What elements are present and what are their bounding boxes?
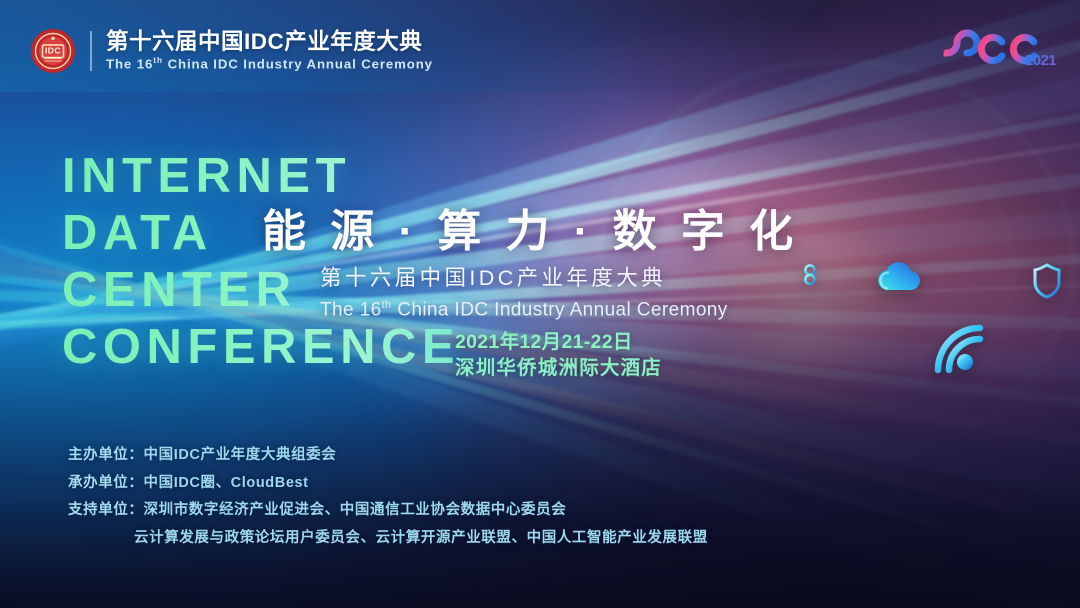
brand-title-en-pre: The 16 [106,57,153,72]
brand-title-cn: 第十六届中国IDC产业年度大典 [106,31,433,54]
wifi-signal-icon [932,322,988,374]
subtitle-en-post: China IDC Industry Annual Ceremony [392,299,728,320]
shield-check-icon [1030,262,1064,300]
brand-divider [90,31,92,71]
main-title-line-4: CONFERENCE [62,319,460,376]
date-venue-block: 2021年12月21-22日 深圳华侨城洲际大酒店 [455,330,662,381]
organizer-label-undertaker: 承办单位： [68,475,144,491]
subtitle-cn: 第十六届中国IDC产业年度大典 [320,265,799,292]
organizer-value-host: 中国IDC产业年度大典组委会 [144,447,337,463]
organizer-row-support: 支持单位：深圳市数字经济产业促进会、中国通信工业协会数据中心委员会 [68,497,708,525]
infinity-icon [797,262,823,288]
organizer-value-support: 深圳市数字经济产业促进会、中国通信工业协会数据中心委员会 [144,502,567,518]
brand-title-en: The 16th China IDC Industry Annual Cerem… [106,56,433,71]
event-venue: 深圳华侨城洲际大酒店 [455,355,662,381]
subtitle-en: The 16th China IDC Industry Annual Cerem… [320,292,799,323]
svg-text:IDC: IDC [45,46,61,56]
main-title-line-1: INTERNET [62,148,460,205]
organizer-label-support: 支持单位： [68,502,144,518]
slogan-cn: 能 源 · 算 力 · 数 字 化 [262,206,799,258]
idc-seal-icon: IDC [30,28,76,74]
organizers-block: 主办单位：中国IDC产业年度大典组委会 承办单位：中国IDC圈、CloudBes… [68,442,708,552]
chinese-headline-block: 能 源 · 算 力 · 数 字 化 第十六届中国IDC产业年度大典 The 16… [262,206,799,323]
poster-header: IDC 第十六届中国IDC产业年度大典 The 16th China IDC I… [0,0,1080,92]
brand-title-en-post: China IDC Industry Annual Ceremony [163,57,433,72]
organizer-label-host: 主办单位： [68,447,144,463]
organizer-value-undertaker: 中国IDC圈、CloudBest [144,475,309,491]
conference-poster: IDC 第十六届中国IDC产业年度大典 The 16th China IDC I… [0,0,1080,608]
organizer-value-support-cont: 云计算发展与政策论坛用户委员会、云计算开源产业联盟、中国人工智能产业发展联盟 [134,530,708,546]
subtitle-en-pre: The 16 [320,299,382,320]
organizer-row-undertaker: 承办单位：中国IDC圈、CloudBest [68,470,708,498]
event-date: 2021年12月21-22日 [455,330,662,355]
organizer-row-support-cont: 云计算发展与政策论坛用户委员会、云计算开源产业联盟、中国人工智能产业发展联盟 [68,525,708,553]
brand-title-en-sup: th [153,55,163,65]
organizer-row-host: 主办单位：中国IDC产业年度大典组委会 [68,442,708,470]
idcc-logo-year: 2021 [1025,52,1056,69]
subtitle-en-sup: th [382,299,392,311]
idcc-2021-logo: 2021 [926,26,1058,70]
brand-lockup: IDC 第十六届中国IDC产业年度大典 The 16th China IDC I… [30,28,433,74]
cloud-icon [872,258,924,298]
